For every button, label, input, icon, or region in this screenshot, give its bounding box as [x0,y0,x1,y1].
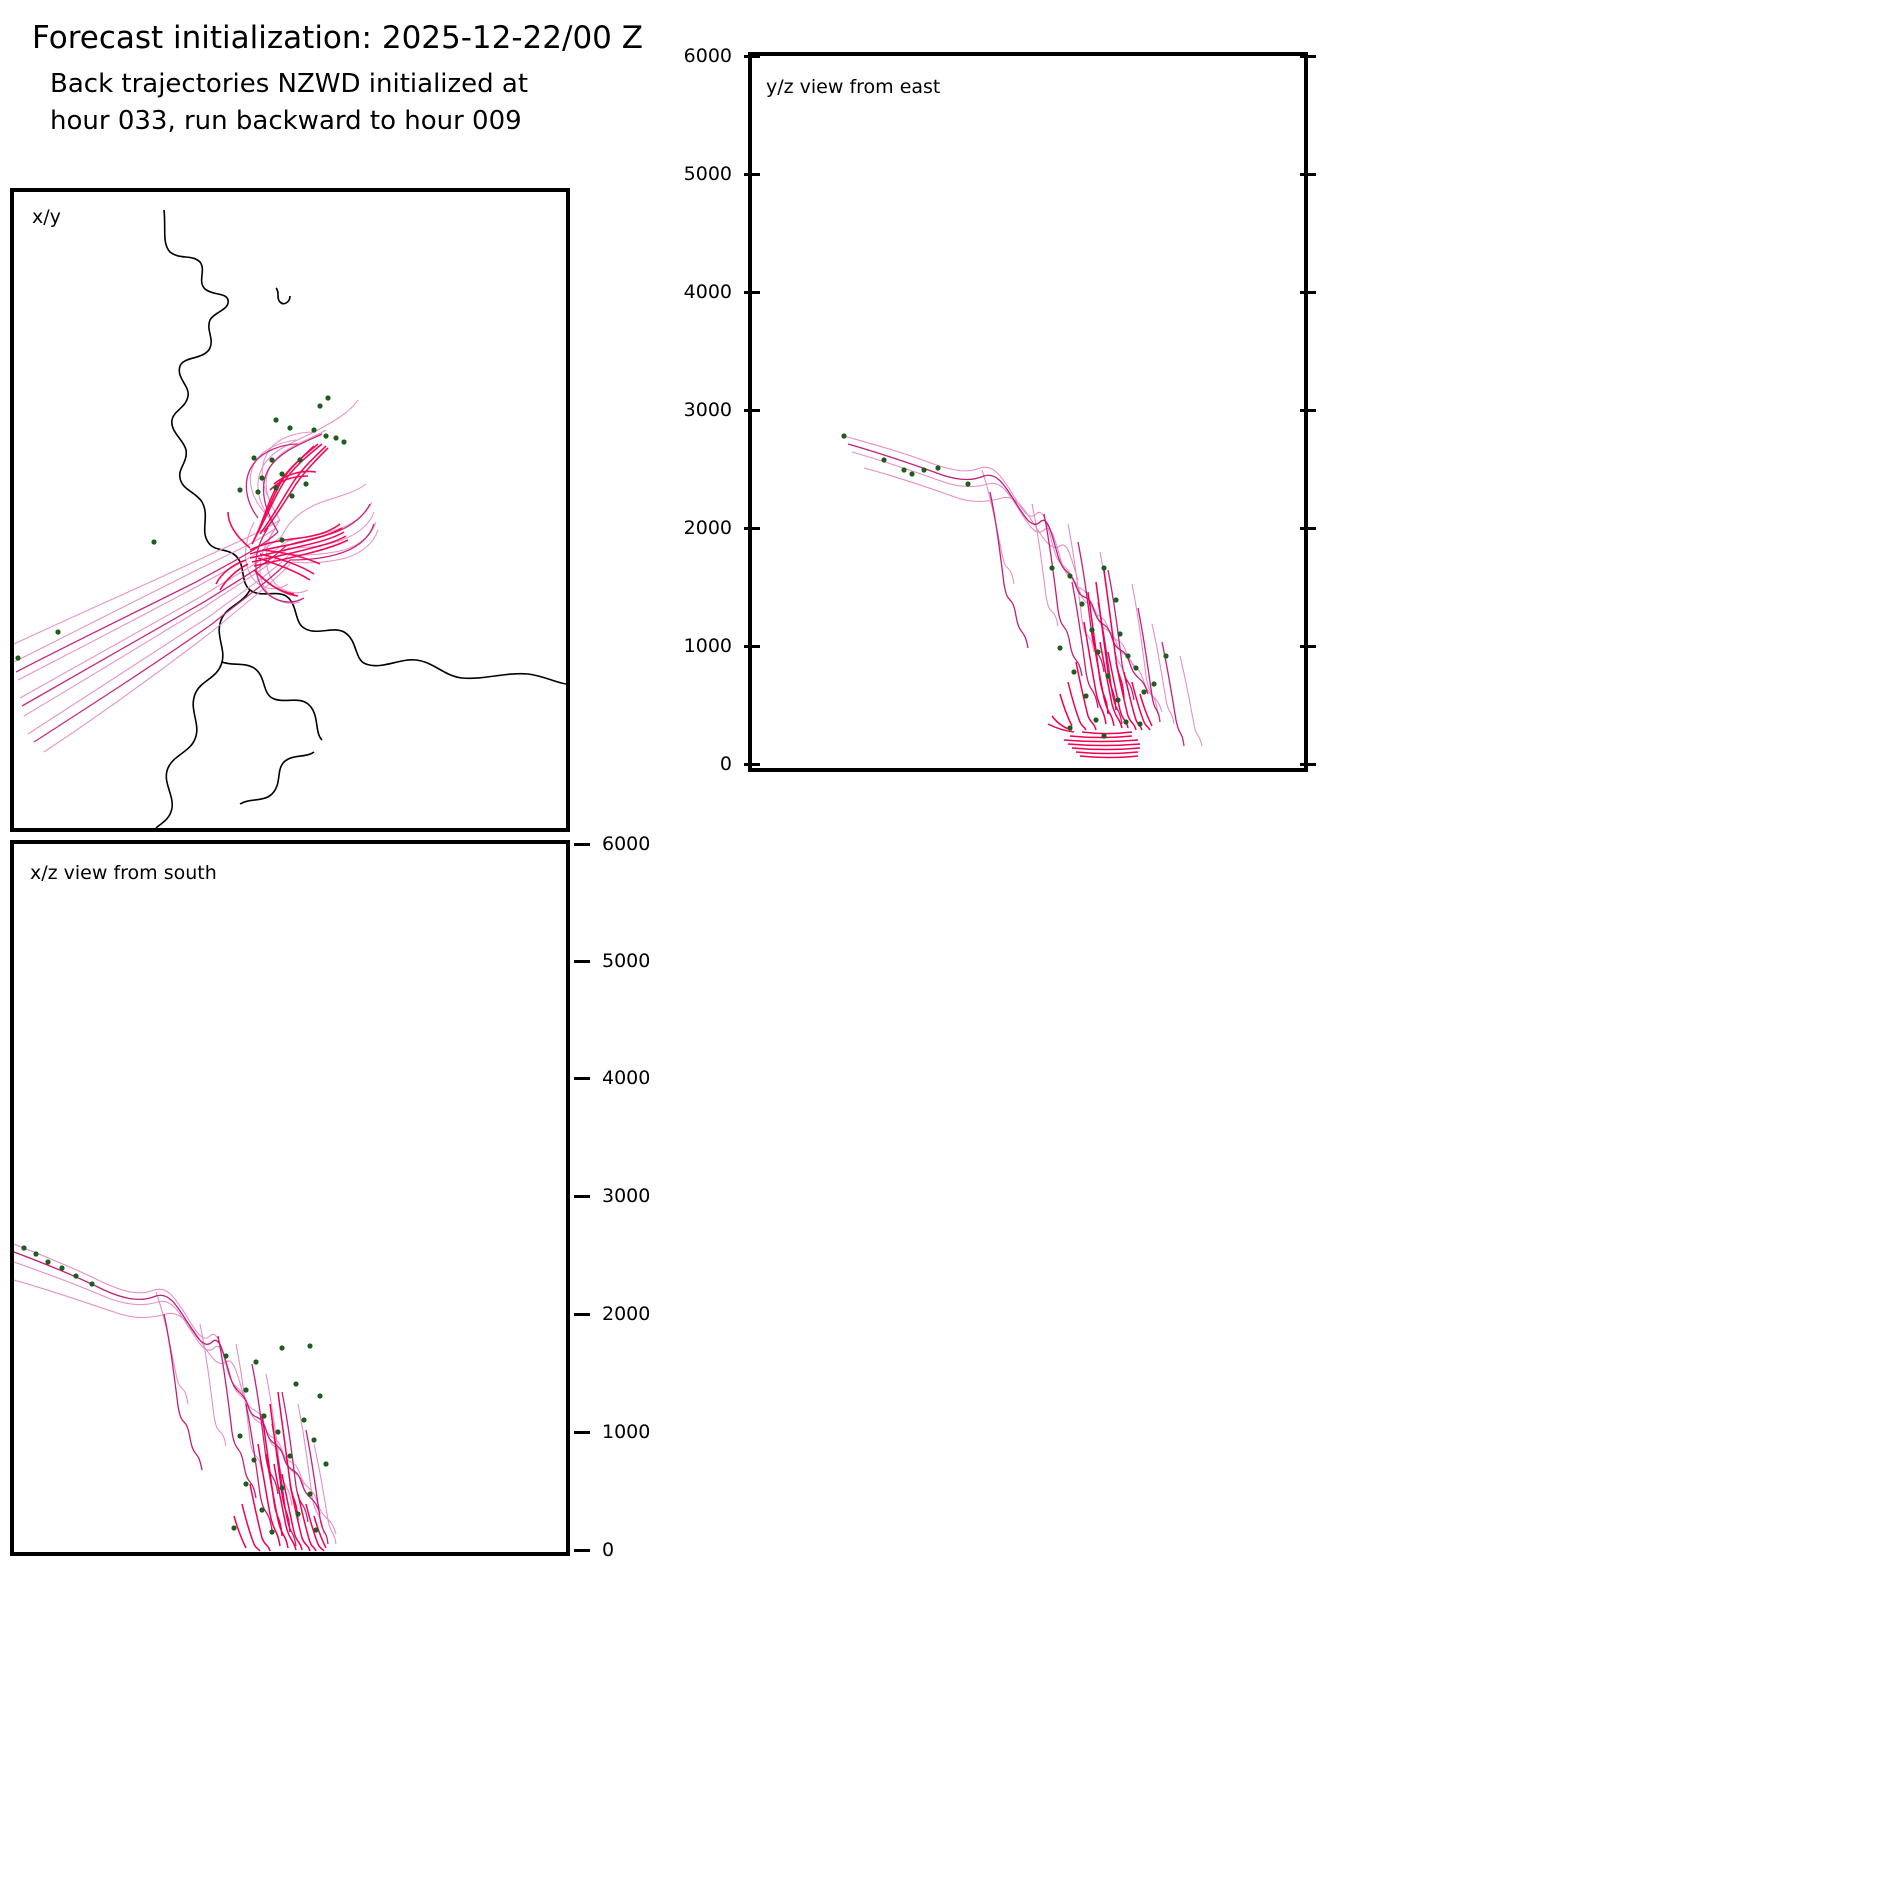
xz-tick-label-5000: 5000 [602,950,650,972]
xz-tick-label-1000: 1000 [602,1421,650,1443]
yz-y-axis: 6000 5000 4000 3000 2000 1000 0 [600,52,760,772]
yz-trajectory-lines-pale [844,436,1202,746]
panel-xz-view-from-south[interactable]: x/z view from south [10,840,570,1556]
yz-tick-label-2000: 2000 [684,517,732,539]
yz-tick-label-4000: 4000 [684,281,732,303]
yz-y-axis-right-ticks [1300,52,1324,772]
xz-tick-5000 [574,960,590,963]
xz-tick-label-4000: 4000 [602,1067,650,1089]
xz-tick-label-3000: 3000 [602,1185,650,1207]
yz-tick-4000 [744,291,760,294]
xz-tick-2000 [574,1313,590,1316]
yz-right-tick-3000 [1300,409,1316,412]
xz-plot-canvas [14,844,566,1552]
yz-right-tick-1000 [1300,645,1316,648]
coastline-path [156,210,566,828]
yz-tick-1000 [744,645,760,648]
yz-right-tick-2000 [1300,527,1316,530]
xz-tick-label-2000: 2000 [602,1303,650,1325]
panel-xy-label: x/y [32,206,61,228]
yz-tick-label-3000: 3000 [684,399,732,421]
yz-right-tick-5000 [1300,173,1316,176]
xz-tick-0 [574,1549,590,1552]
xz-tick-label-6000: 6000 [602,833,650,855]
yz-tick-3000 [744,409,760,412]
xz-tick-6000 [574,843,590,846]
xz-tick-3000 [574,1195,590,1198]
xz-y-axis: 6000 5000 4000 3000 2000 1000 0 [574,840,694,1556]
yz-tick-label-1000: 1000 [684,635,732,657]
yz-tick-6000 [744,55,760,58]
trajectory-lines-bright [216,444,348,596]
xz-tick-label-0: 0 [602,1539,614,1561]
yz-tick-label-5000: 5000 [684,163,732,185]
yz-tick-label-0: 0 [720,753,732,775]
yz-tick-5000 [744,173,760,176]
yz-right-tick-0 [1300,763,1316,766]
yz-right-tick-6000 [1300,55,1316,58]
yz-right-tick-4000 [1300,291,1316,294]
panel-yz-label: y/z view from east [766,76,940,98]
yz-tick-0 [744,763,760,766]
xz-tick-4000 [574,1077,590,1080]
panel-yz-view-from-east[interactable]: y/z view from east [748,52,1308,772]
yz-tick-label-6000: 6000 [684,45,732,67]
panel-xy-map[interactable]: x/y [10,188,570,832]
yz-plot-canvas [752,56,1304,768]
xz-tick-1000 [574,1431,590,1434]
xy-plot-canvas [14,192,566,828]
yz-trajectory-lines-bright [1048,570,1152,758]
yz-tick-2000 [744,527,760,530]
panel-xz-label: x/z view from south [30,862,217,884]
